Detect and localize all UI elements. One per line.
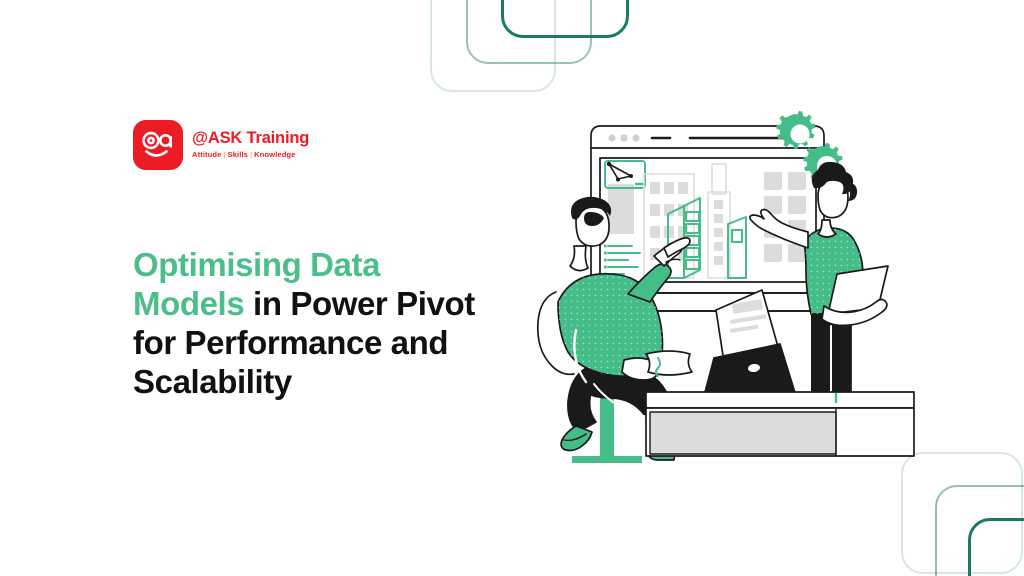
tagline-separator-1: |: [221, 150, 227, 159]
ask-training-logo-icon: [133, 120, 183, 170]
headline-accent-line-1: Optimising Data: [133, 246, 380, 283]
headline-line-3: for Performance and: [133, 324, 448, 361]
data-team-dashboard-illustration: [528, 96, 920, 464]
tagline-skills: Skills: [228, 150, 248, 159]
decor-square-bottom-dark: [968, 518, 1024, 576]
decor-square-top-dark: [501, 0, 629, 38]
brand-tagline: Attitude|Skills|Knowledge: [192, 150, 309, 160]
brand-logo: @ASK Training Attitude|Skills|Knowledge: [133, 120, 309, 170]
headline-line-4: Scalability: [133, 363, 292, 400]
brand-name: @ASK Training: [192, 130, 309, 147]
headline-accent-line-2: Models: [133, 285, 244, 322]
headline-rest-line-2: in Power Pivot: [244, 285, 475, 322]
page-title: Optimising Data Models in Power Pivot fo…: [133, 246, 553, 402]
tagline-knowledge: Knowledge: [254, 150, 295, 159]
tagline-attitude: Attitude: [192, 150, 221, 159]
tagline-separator-2: |: [248, 150, 254, 159]
brand-logo-text: @ASK Training Attitude|Skills|Knowledge: [192, 130, 309, 159]
slide-canvas: @ASK Training Attitude|Skills|Knowledge …: [0, 0, 1024, 576]
